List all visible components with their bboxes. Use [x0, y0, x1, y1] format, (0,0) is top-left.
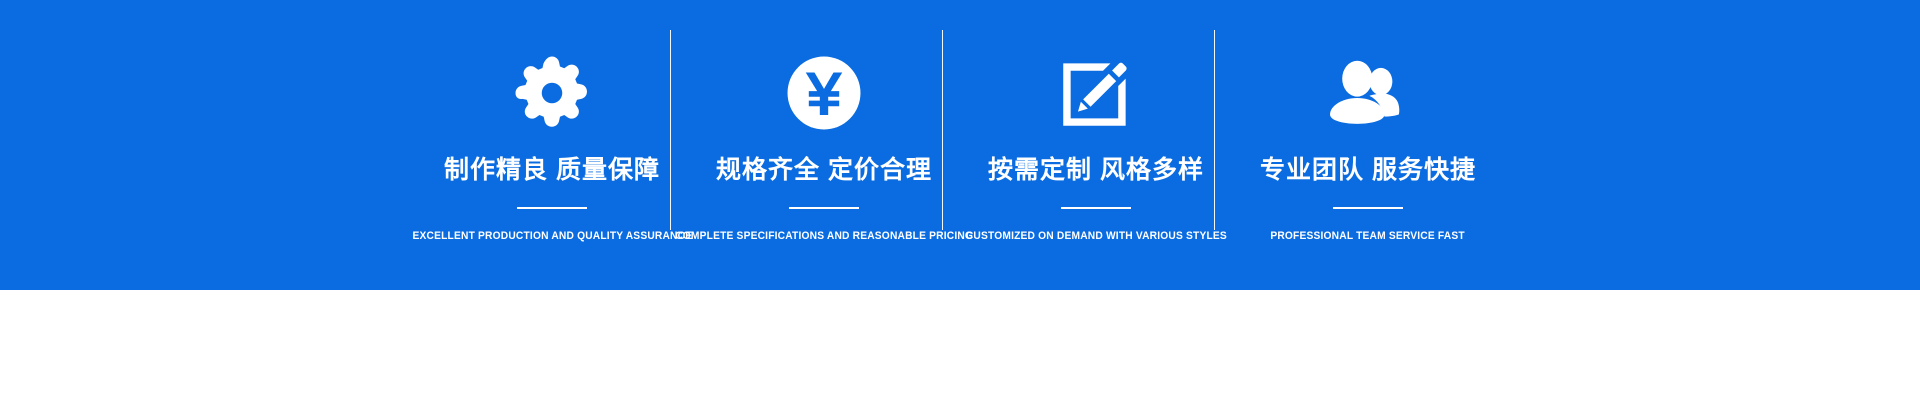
feature-title: 制作精良 质量保障 [444, 158, 660, 183]
feature-item-quality[interactable]: 制作精良 质量保障 EXCELLENT PRODUCTION AND QUALI… [416, 0, 688, 290]
feature-title: 专业团队 服务快捷 [1260, 158, 1476, 183]
feature-title: 规格齐全 定价合理 [716, 158, 932, 183]
feature-divider-rule [1061, 207, 1131, 209]
feature-banner: 制作精良 质量保障 EXCELLENT PRODUCTION AND QUALI… [0, 0, 1920, 290]
feature-subtitle: EXCELLENT PRODUCTION AND QUALITY ASSURAN… [412, 231, 692, 242]
feature-divider-rule [517, 207, 587, 209]
feature-subtitle: COMPLETE SPECIFICATIONS AND REASONABLE P… [675, 231, 973, 242]
feature-item-team[interactable]: 专业团队 服务快捷 PROFESSIONAL TEAM SERVICE FAST [1232, 0, 1504, 290]
feature-divider-rule [1333, 207, 1403, 209]
two-people-icon [1325, 52, 1411, 134]
feature-subtitle: CUSTOMIZED ON DEMAND WITH VARIOUS STYLES [965, 231, 1226, 242]
feature-subtitle: PROFESSIONAL TEAM SERVICE FAST [1271, 231, 1465, 242]
yen-circle-icon [786, 52, 862, 134]
feature-item-pricing[interactable]: 规格齐全 定价合理 COMPLETE SPECIFICATIONS AND RE… [688, 0, 960, 290]
gear-icon [514, 52, 590, 134]
feature-title: 按需定制 风格多样 [988, 158, 1204, 183]
edit-pencil-square-icon [1057, 52, 1135, 134]
feature-item-customization[interactable]: 按需定制 风格多样 CUSTOMIZED ON DEMAND WITH VARI… [960, 0, 1232, 290]
feature-list: 制作精良 质量保障 EXCELLENT PRODUCTION AND QUALI… [0, 0, 1920, 290]
feature-divider-rule [789, 207, 859, 209]
